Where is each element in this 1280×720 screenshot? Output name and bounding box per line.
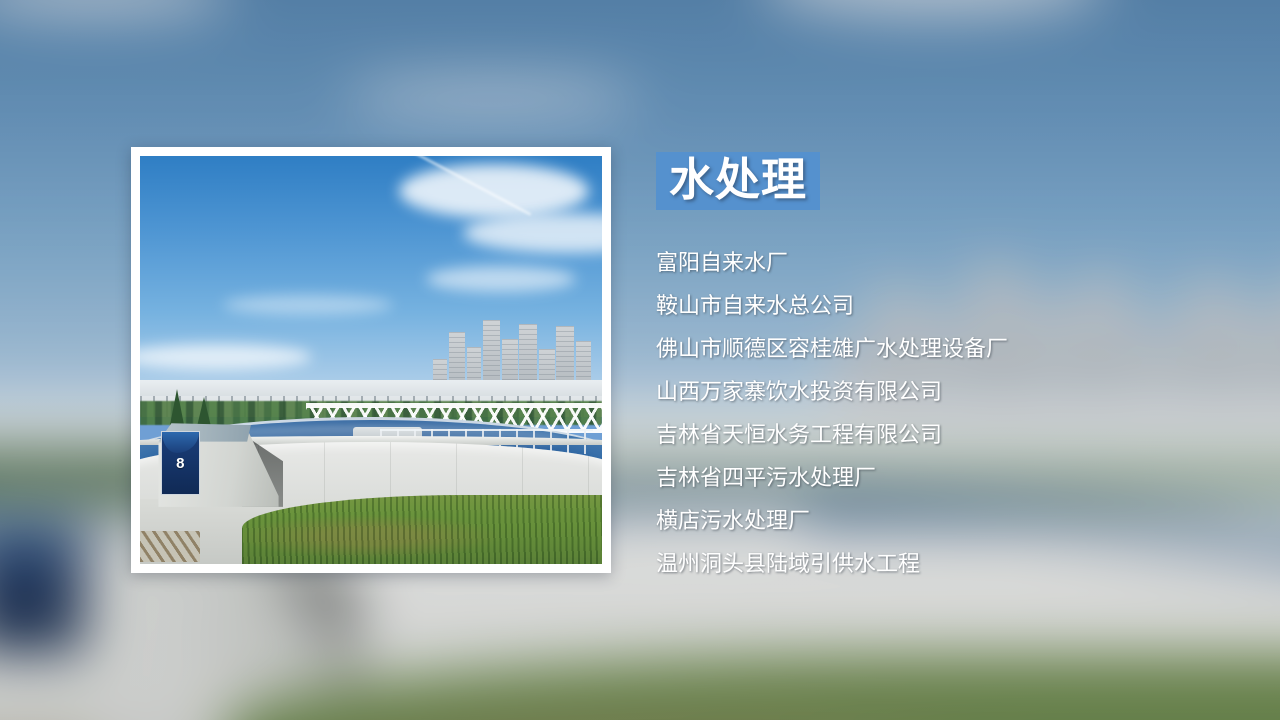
photo-cloud: [223, 295, 393, 315]
slide-canvas: 8 水处理 富阳自来水厂 鞍山市自来水总公司 佛山市顺德区容桂雄广水处理设备厂 …: [0, 0, 1280, 720]
photo-numbered-sign: 8: [161, 431, 200, 494]
title-badge: 水处理: [656, 152, 820, 210]
list-item: 横店污水处理厂: [656, 500, 1256, 543]
page-title: 水处理: [669, 153, 807, 206]
photo-drain-grate: [140, 531, 200, 562]
photo-frame: 8: [131, 147, 611, 573]
customer-list: 富阳自来水厂 鞍山市自来水总公司 佛山市顺德区容桂雄广水处理设备厂 山西万家寨饮…: [656, 242, 1256, 586]
water-treatment-photo: 8: [140, 156, 602, 564]
list-item: 吉林省四平污水处理厂: [656, 457, 1256, 500]
list-item: 佛山市顺德区容桂雄广水处理设备厂: [656, 328, 1256, 371]
content-column: 水处理 富阳自来水厂 鞍山市自来水总公司 佛山市顺德区容桂雄广水处理设备厂 山西…: [656, 140, 1256, 586]
list-item: 鞍山市自来水总公司: [656, 285, 1256, 328]
photo-cloud: [399, 164, 589, 218]
list-item: 山西万家寨饮水投资有限公司: [656, 371, 1256, 414]
list-item: 温州洞头县陆域引供水工程: [656, 543, 1256, 586]
list-item: 吉林省天恒水务工程有限公司: [656, 414, 1256, 457]
list-item: 富阳自来水厂: [656, 242, 1256, 285]
photo-sign-number: 8: [176, 455, 184, 472]
photo-cloud: [140, 344, 312, 370]
